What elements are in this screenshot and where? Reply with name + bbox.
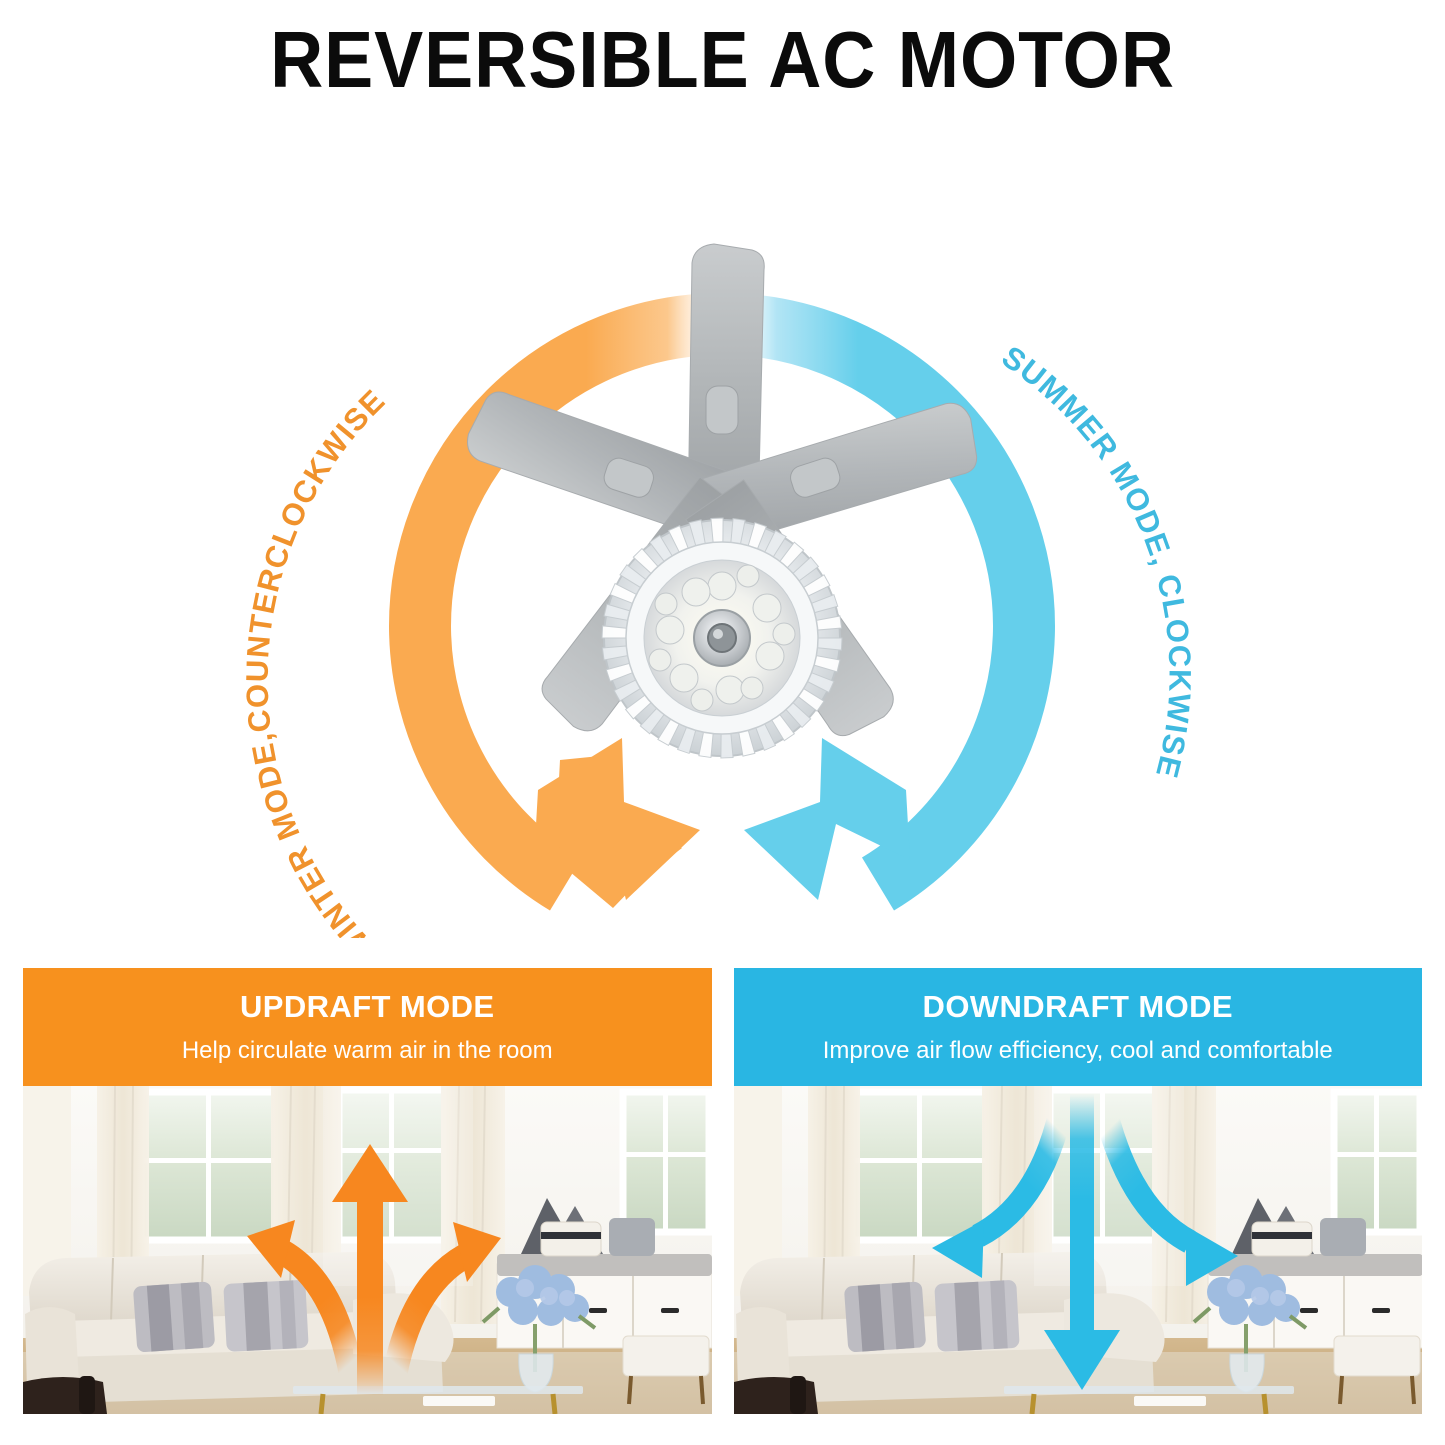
downdraft-photo [734, 1086, 1423, 1414]
updraft-title: UPDRAFT MODE [23, 984, 712, 1030]
winter-mode-label: WINTER MODE,COUNTERCLOCKWISE [239, 382, 392, 938]
mode-panels: UPDRAFT MODE Help circulate warm air in … [23, 968, 1422, 1414]
updraft-photo [23, 1086, 712, 1414]
downdraft-subtitle: Improve air flow efficiency, cool and co… [734, 1030, 1423, 1072]
downdraft-header: DOWNDRAFT MODE Improve air flow efficien… [734, 968, 1423, 1086]
crystal-light-kit-hub [602, 518, 842, 758]
page-title: REVERSIBLE AC MOTOR [58, 14, 1387, 106]
updraft-subtitle: Help circulate warm air in the room [23, 1030, 712, 1072]
panel-downdraft: DOWNDRAFT MODE Improve air flow efficien… [734, 968, 1423, 1414]
downdraft-title: DOWNDRAFT MODE [734, 984, 1423, 1030]
ceiling-fan [460, 244, 986, 758]
reversible-motor-diagram: WINTER MODE,COUNTERCLOCKWISE SUMMER MODE… [0, 118, 1445, 938]
updraft-header: UPDRAFT MODE Help circulate warm air in … [23, 968, 712, 1086]
panel-updraft: UPDRAFT MODE Help circulate warm air in … [23, 968, 712, 1414]
